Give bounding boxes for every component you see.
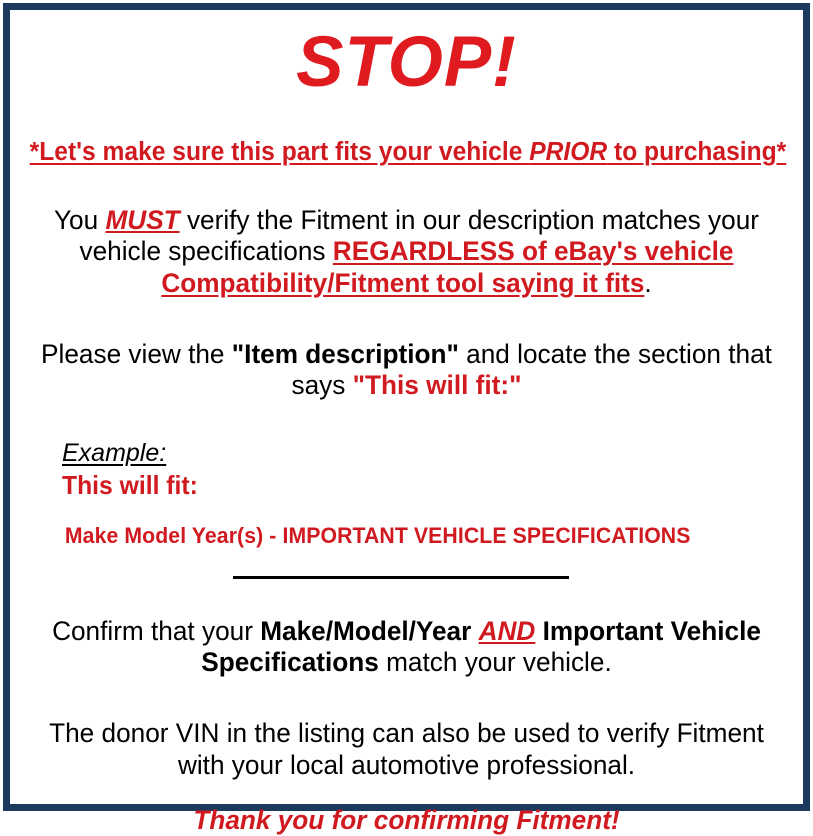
closing-message: Thank you for confirming Fitment! [28, 781, 786, 836]
confirm-text-part4: match your vehicle. [379, 647, 612, 677]
tagline-emphasis-prior: PRIOR [529, 138, 607, 166]
example-label-row: Example: [62, 439, 797, 468]
divider-wrap [16, 549, 797, 579]
example-block: Example: This will fit: Make Model Year(… [16, 402, 797, 549]
example-fit-heading: This will fit: [62, 468, 760, 501]
fitment-notice-frame: STOP! *Let's make sure this part fits yo… [0, 0, 813, 814]
example-spec-line: Make Model Year(s) - IMPORTANT VEHICLE S… [62, 501, 771, 549]
tagline-text-before: *Let's make sure this part fits your veh… [30, 138, 530, 166]
confirm-paragraph: Confirm that your Make/Model/Year AND Im… [28, 579, 786, 679]
tagline-text-after: to purchasing* [607, 138, 786, 166]
confirm-text-part2 [471, 616, 478, 646]
example-label: Example: [62, 439, 166, 468]
item-description-emphasis: "Item description" [232, 339, 459, 369]
and-emphasis: AND [479, 616, 536, 646]
must-text-part1: You [54, 205, 105, 235]
item-description-paragraph: Please view the "Item description" and l… [28, 299, 786, 402]
donor-vin-paragraph: The donor VIN in the listing can also be… [28, 678, 786, 781]
notice-border: STOP! *Let's make sure this part fits yo… [3, 3, 810, 811]
confirm-text-part1: Confirm that your [52, 616, 260, 646]
must-verify-paragraph: You MUST verify the Fitment in our descr… [28, 166, 786, 299]
view-text-part1: Please view the [41, 339, 232, 369]
this-will-fit-emphasis: "This will fit:" [353, 370, 522, 400]
make-model-year-emphasis: Make/Model/Year [260, 616, 471, 646]
must-emphasis: MUST [105, 205, 179, 235]
confirm-text-part3 [535, 616, 542, 646]
page-title: STOP! [16, 10, 797, 98]
notice-body: STOP! *Let's make sure this part fits yo… [10, 10, 803, 804]
must-text-part3: . [644, 268, 651, 298]
tagline: *Let's make sure this part fits your veh… [30, 98, 784, 166]
